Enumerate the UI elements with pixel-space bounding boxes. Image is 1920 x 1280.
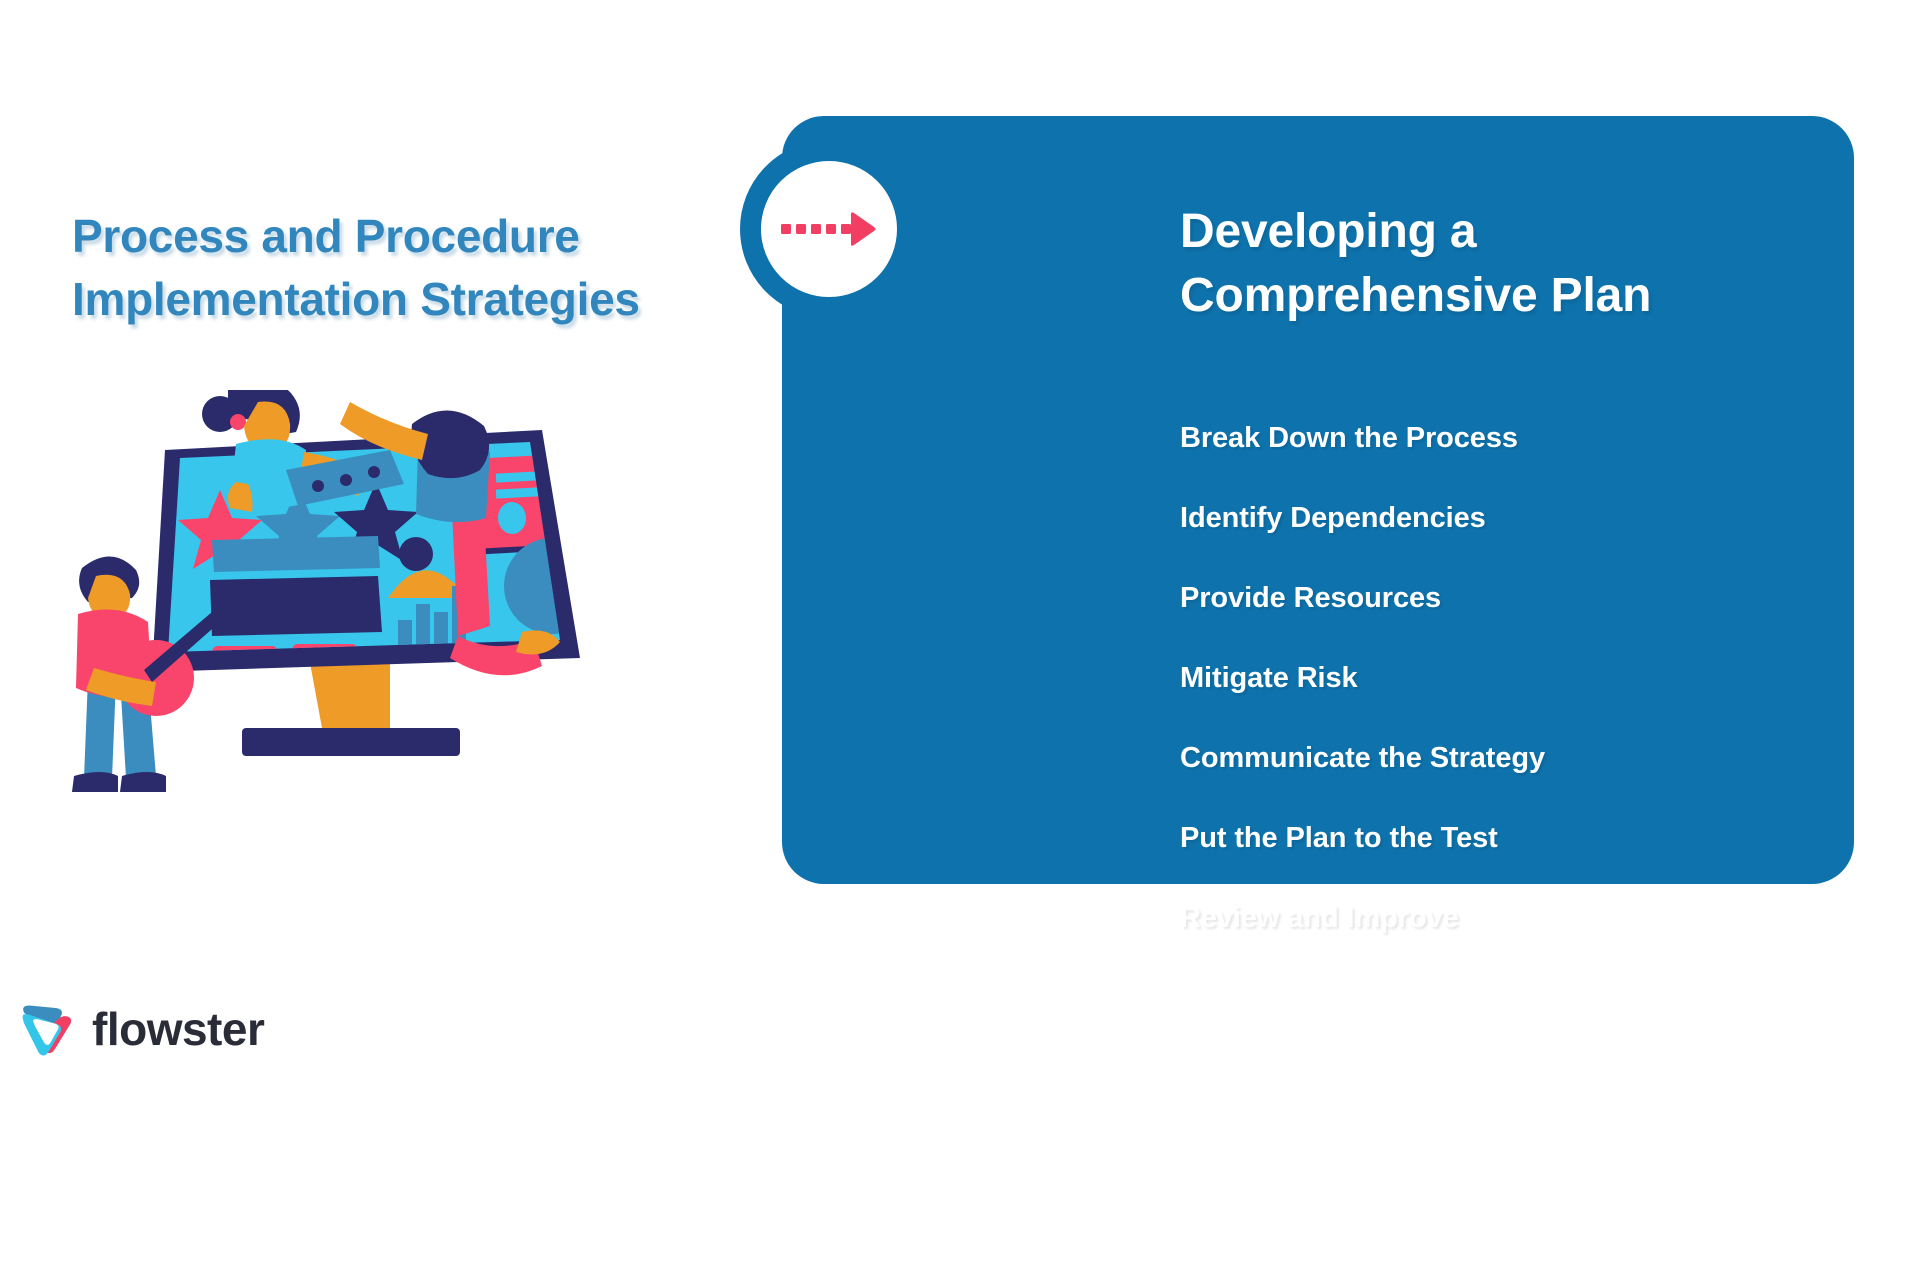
flowster-wordmark: flowster (92, 1006, 264, 1052)
left-column: Process and Procedure Implementation Str… (0, 0, 760, 1280)
page-title: Process and Procedure Implementation Str… (72, 205, 712, 332)
infographic-canvas: Process and Procedure Implementation Str… (0, 0, 1920, 1280)
hero-illustration (60, 390, 640, 810)
panel-heading-line-2: Comprehensive Plan (1180, 264, 1840, 328)
flowster-mark-icon (16, 1000, 74, 1058)
page-title-line-1: Process and Procedure (72, 205, 712, 268)
plan-list: Break Down the Process Identify Dependen… (1180, 398, 1880, 958)
list-item: Identify Dependencies (1180, 478, 1880, 558)
list-item: Break Down the Process (1180, 398, 1880, 478)
list-item: Review and Improve (1180, 878, 1880, 958)
list-item: Communicate the Strategy (1180, 718, 1880, 798)
screen-card (474, 454, 579, 555)
panel-heading-line-1: Developing a (1180, 200, 1840, 264)
panel-heading: Developing a Comprehensive Plan (1180, 200, 1840, 328)
list-item: Provide Resources (1180, 558, 1880, 638)
list-item: Put the Plan to the Test (1180, 798, 1880, 878)
badge-circle (740, 140, 918, 318)
dashed-arrow-right-icon (781, 212, 877, 246)
page-title-line-2: Implementation Strategies (72, 268, 712, 331)
list-item: Mitigate Risk (1180, 638, 1880, 718)
flowster-logo[interactable]: flowster (16, 1000, 264, 1058)
